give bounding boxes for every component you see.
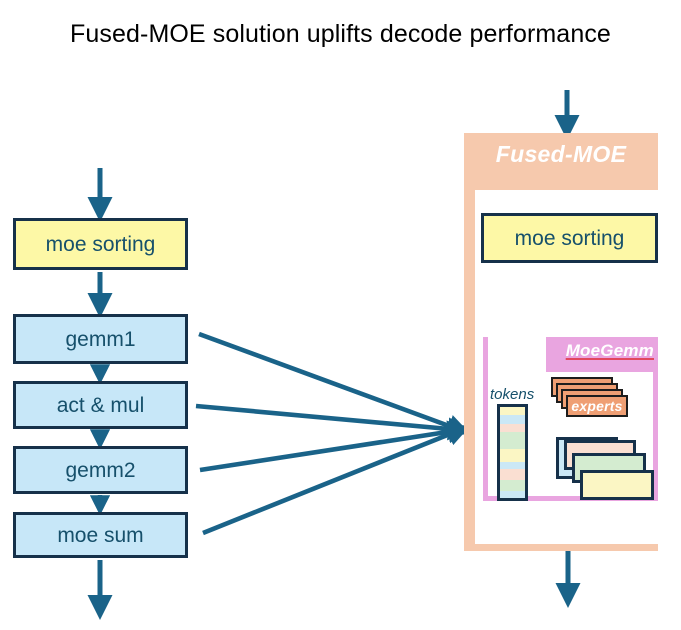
node-label: moe sorting: [46, 234, 156, 255]
node-label: moe sorting: [515, 228, 625, 249]
page-title: Fused-MOE solution uplifts decode perfor…: [0, 20, 681, 49]
diagram-canvas: Fused-MOE solution uplifts decode perfor…: [0, 0, 681, 630]
token-stripe: [500, 424, 525, 432]
experts-label: experts: [571, 399, 622, 413]
moegemm-panel-notch: [488, 337, 546, 372]
fan-arrow-from-gemm2: [200, 430, 460, 470]
token-stripe: [500, 480, 525, 492]
node-act-mul[interactable]: act & mul: [13, 381, 188, 429]
tokens-label: tokens: [490, 386, 534, 403]
node-gemm1[interactable]: gemm1: [13, 314, 188, 364]
expert-card-labeled: experts: [566, 395, 628, 417]
moegemm-output-card: [580, 470, 654, 500]
token-stripe: [500, 407, 525, 415]
tokens-column: [497, 404, 528, 501]
node-label: moe sum: [57, 525, 143, 546]
node-label: act & mul: [57, 395, 145, 416]
fan-arrow-from-actmul: [196, 406, 460, 430]
token-stripe: [500, 462, 525, 469]
node-moe-sum[interactable]: moe sum: [13, 512, 188, 558]
node-moe-sorting-fused[interactable]: moe sorting: [481, 213, 658, 263]
node-gemm2[interactable]: gemm2: [13, 446, 188, 494]
fan-arrow-from-moesum: [203, 430, 460, 533]
node-label: gemm1: [65, 329, 135, 350]
moegemm-panel-title: MoeGemm: [566, 341, 654, 361]
token-stripe: [500, 491, 525, 498]
fused-moe-panel-title: Fused-MOE: [464, 141, 658, 168]
token-stripe: [500, 449, 525, 461]
node-label: gemm2: [65, 460, 135, 481]
fan-arrow-from-gemm1: [199, 334, 460, 430]
token-stripe: [500, 469, 525, 480]
token-stripe: [500, 432, 525, 449]
token-stripe: [500, 415, 525, 423]
node-moe-sorting-baseline[interactable]: moe sorting: [13, 218, 188, 270]
